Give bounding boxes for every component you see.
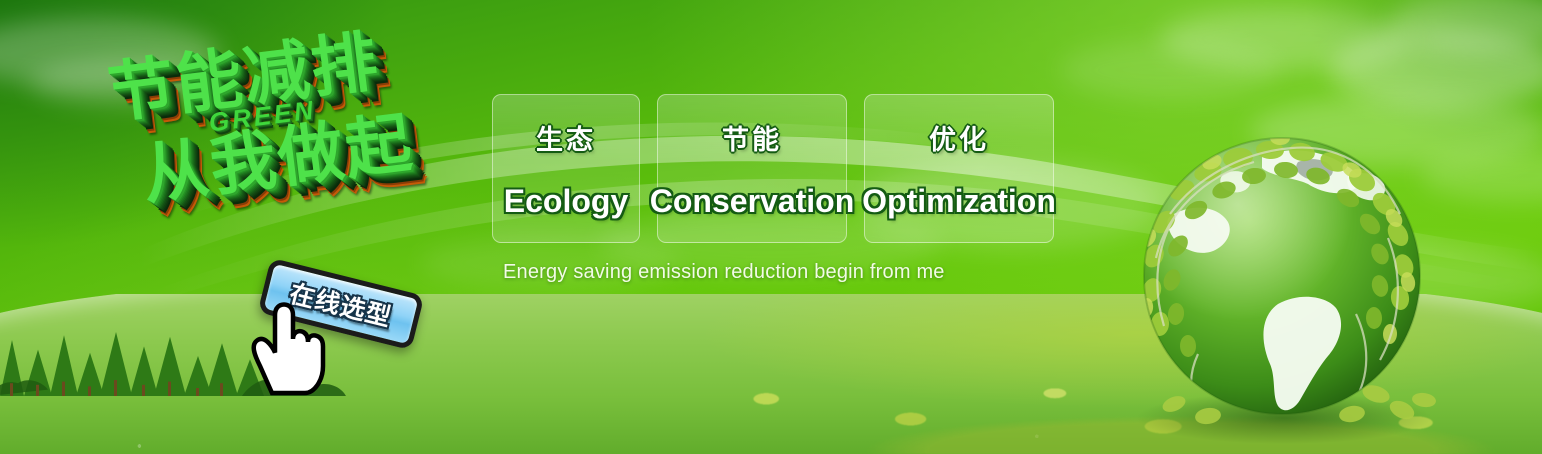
headline-3d: 节能减排 GREEN 从我做起 bbox=[83, 13, 529, 302]
eco-promo-banner: 节能减排 GREEN 从我做起 在线选型 生态 Ecology 节能 Conse… bbox=[0, 0, 1542, 454]
feature-cn-label: 优化 bbox=[929, 118, 989, 157]
tagline: Energy saving emission reduction begin f… bbox=[503, 261, 945, 284]
feature-en-label: Optimization bbox=[862, 183, 1056, 220]
feature-box-optimization[interactable]: 优化 Optimization bbox=[864, 94, 1054, 243]
feature-box-group: 生态 Ecology 节能 Conservation 优化 Optimizati… bbox=[492, 94, 1054, 243]
feature-cn-label: 生态 bbox=[536, 118, 596, 157]
pointing-hand-cursor-icon bbox=[242, 300, 332, 396]
feature-en-label: Conservation bbox=[650, 183, 854, 220]
feature-cn-label: 节能 bbox=[722, 118, 782, 157]
leafy-green-globe-icon bbox=[1112, 118, 1452, 448]
feature-box-conservation[interactable]: 节能 Conservation bbox=[657, 94, 847, 243]
feature-box-ecology[interactable]: 生态 Ecology bbox=[492, 94, 640, 243]
feature-en-label: Ecology bbox=[504, 183, 628, 220]
